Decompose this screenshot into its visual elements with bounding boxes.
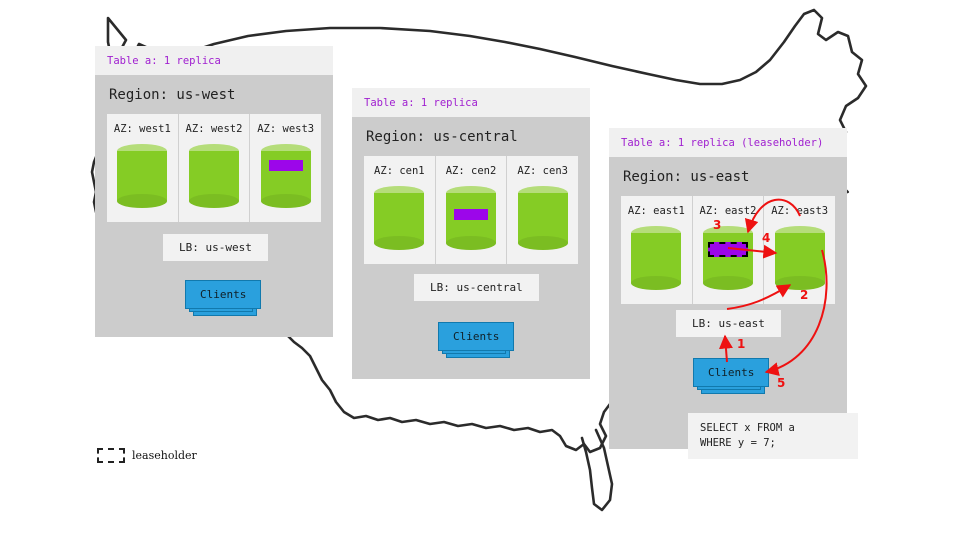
cylinder-bottom-cen1 (374, 236, 424, 250)
cylinder-bottom-east2 (703, 276, 753, 290)
az-cen1[interactable]: AZ: cen1 (364, 156, 435, 264)
flow-step-label-5: 5 (777, 376, 785, 390)
clients-us-west[interactable]: Clients (185, 280, 261, 309)
legend-leaseholder-swatch-icon (97, 448, 125, 463)
az-row-us-central: AZ: cen1 AZ: cen2 (364, 156, 578, 264)
az-west2[interactable]: AZ: west2 (178, 114, 250, 222)
load-balancer-us-east[interactable]: LB: us-east (676, 310, 781, 337)
az-cen2[interactable]: AZ: cen2 (435, 156, 507, 264)
clients-label-us-central[interactable]: Clients (438, 322, 514, 351)
legend: leaseholder (97, 448, 197, 463)
cylinder-bottom-east1 (631, 276, 681, 290)
clients-us-east[interactable]: Clients (693, 358, 769, 387)
cylinder-east3[interactable] (775, 226, 825, 290)
cylinder-west1[interactable] (117, 144, 167, 208)
flow-step-label-2: 2 (800, 288, 808, 302)
region-title-us-west: Region: us-west (107, 75, 321, 114)
az-label-east2: AZ: east2 (700, 205, 757, 217)
load-balancer-us-central[interactable]: LB: us-central (414, 274, 539, 301)
region-body-us-east: Region: us-east AZ: east1 AZ: east2 (609, 157, 847, 449)
cylinder-bottom-west2 (189, 194, 239, 208)
cylinder-bottom-cen2 (446, 236, 496, 250)
clients-us-central[interactable]: Clients (438, 322, 514, 351)
az-cen3[interactable]: AZ: cen3 (506, 156, 578, 264)
az-west1[interactable]: AZ: west1 (107, 114, 178, 222)
cylinder-east2[interactable] (703, 226, 753, 290)
flow-step-label-3: 3 (713, 218, 721, 232)
region-panel-us-central: Table a: 1 replica Region: us-central AZ… (352, 88, 590, 379)
region-panel-us-west: Table a: 1 replica Region: us-west AZ: w… (95, 46, 333, 337)
leaseholder-east2[interactable] (708, 242, 748, 257)
region-header-us-west: Table a: 1 replica (95, 46, 333, 75)
cylinder-east1[interactable] (631, 226, 681, 290)
az-east1[interactable]: AZ: east1 (621, 196, 692, 304)
cylinder-bottom-west1 (117, 194, 167, 208)
diagram-canvas: 1 2 3 4 5 Table a: 1 replica Region: us-… (0, 0, 960, 540)
az-label-west1: AZ: west1 (114, 123, 171, 135)
region-panel-us-east: Table a: 1 replica (leaseholder) Region:… (609, 128, 847, 449)
cylinder-west3[interactable] (261, 144, 311, 208)
load-balancer-us-west[interactable]: LB: us-west (163, 234, 268, 261)
region-title-us-east: Region: us-east (621, 157, 835, 196)
region-title-us-central: Region: us-central (364, 117, 578, 156)
replica-cen2[interactable] (454, 209, 488, 220)
az-label-east1: AZ: east1 (628, 205, 685, 217)
az-label-cen2: AZ: cen2 (446, 165, 497, 177)
clients-label-us-east[interactable]: Clients (693, 358, 769, 387)
az-label-east3: AZ: east3 (771, 205, 828, 217)
az-label-west2: AZ: west2 (186, 123, 243, 135)
flow-step-label-4: 4 (762, 231, 770, 245)
legend-leaseholder-label: leaseholder (132, 449, 197, 462)
az-row-us-west: AZ: west1 AZ: west2 AZ (107, 114, 321, 222)
cylinder-cen3[interactable] (518, 186, 568, 250)
cylinder-cen1[interactable] (374, 186, 424, 250)
az-west3[interactable]: AZ: west3 (249, 114, 321, 222)
az-label-west3: AZ: west3 (257, 123, 314, 135)
region-header-us-central: Table a: 1 replica (352, 88, 590, 117)
sql-query-box: SELECT x FROM a WHERE y = 7; (688, 413, 858, 459)
cylinder-west2[interactable] (189, 144, 239, 208)
clients-label-us-west[interactable]: Clients (185, 280, 261, 309)
az-label-cen1: AZ: cen1 (374, 165, 425, 177)
cylinder-bottom-west3 (261, 194, 311, 208)
replica-west3[interactable] (269, 160, 303, 171)
cylinder-cen2[interactable] (446, 186, 496, 250)
az-east2[interactable]: AZ: east2 (692, 196, 764, 304)
cylinder-bottom-cen3 (518, 236, 568, 250)
flow-step-label-1: 1 (737, 337, 745, 351)
az-label-cen3: AZ: cen3 (517, 165, 568, 177)
region-header-us-east: Table a: 1 replica (leaseholder) (609, 128, 847, 157)
